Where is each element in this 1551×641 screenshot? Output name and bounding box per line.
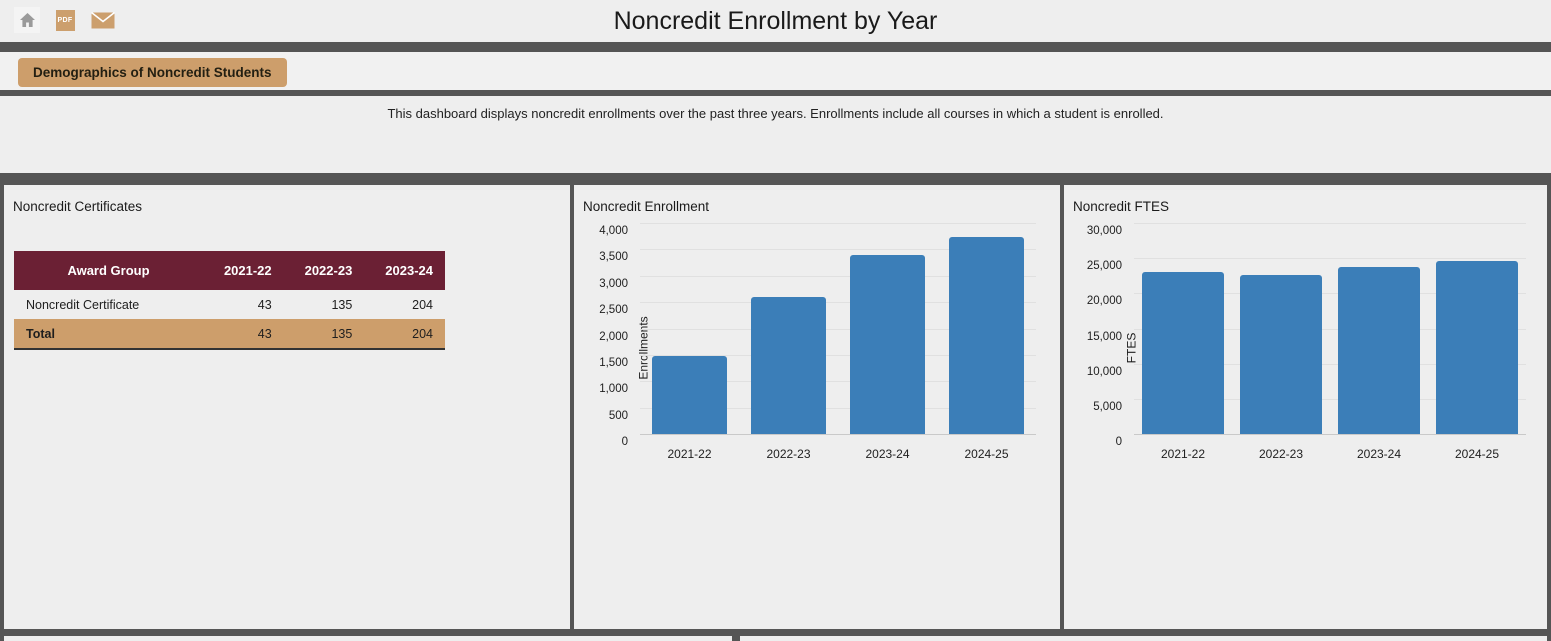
panel-noncredit-ftes: Noncredit FTES 05,00010,00015,00020,0002… bbox=[1064, 185, 1547, 629]
enrollment-y-axis-label: Enrollments bbox=[637, 316, 651, 379]
cell-value: 135 bbox=[284, 290, 365, 319]
gridline bbox=[640, 223, 1036, 224]
y-axis-tick-label: 2,500 bbox=[599, 304, 628, 316]
total-value: 135 bbox=[284, 319, 365, 349]
total-value: 204 bbox=[364, 319, 445, 349]
col-2021-22: 2021-22 bbox=[203, 251, 284, 290]
x-axis-tick-label: 2021-22 bbox=[667, 447, 711, 461]
table-body: Noncredit Certificate 43 135 204 Total 4… bbox=[14, 290, 445, 349]
total-value: 43 bbox=[203, 319, 284, 349]
table-header-row: Award Group 2021-22 2022-23 2023-24 bbox=[14, 251, 445, 290]
y-axis-tick-label: 10,000 bbox=[1087, 366, 1122, 378]
bar-2021-22[interactable] bbox=[1142, 272, 1224, 434]
x-axis-tick-label: 2024-25 bbox=[1455, 447, 1499, 461]
dashboard-root: PDF Noncredit Enrollment by Year Demogra… bbox=[0, 0, 1551, 641]
row-label: Noncredit Certificate bbox=[14, 290, 203, 319]
ftes-plot-area: FTES 2021-222022-232023-242024-25 bbox=[1134, 223, 1526, 434]
y-axis-tick-label: 0 bbox=[622, 436, 628, 448]
y-axis-tick-label: 5,000 bbox=[1093, 401, 1122, 413]
cell-value: 43 bbox=[203, 290, 284, 319]
total-label: Total bbox=[14, 319, 203, 349]
dashboard-description: This dashboard displays noncredit enroll… bbox=[0, 106, 1551, 121]
tab-demographics-of-noncredit-students[interactable]: Demographics of Noncredit Students bbox=[18, 58, 287, 87]
x-axis-tick-label: 2023-24 bbox=[1357, 447, 1401, 461]
y-axis-tick-label: 1,000 bbox=[599, 383, 628, 395]
col-award-group: Award Group bbox=[14, 251, 203, 290]
bar-2024-25[interactable] bbox=[949, 237, 1024, 434]
enrollment-plot-area: Enrollments 2021-222022-232023-242024-25 bbox=[640, 223, 1036, 434]
table-head: Award Group 2021-22 2022-23 2023-24 bbox=[14, 251, 445, 290]
bar-2022-23[interactable] bbox=[1240, 275, 1322, 434]
y-axis-tick-label: 3,000 bbox=[599, 278, 628, 290]
y-axis-tick-label: 25,000 bbox=[1087, 260, 1122, 272]
bottom-panel-right bbox=[740, 636, 1547, 641]
ftes-bar-chart: 05,00010,00015,00020,00025,00030,000 FTE… bbox=[1064, 215, 1547, 465]
x-axis-tick-label: 2022-23 bbox=[1259, 447, 1303, 461]
y-axis-tick-label: 1,500 bbox=[599, 357, 628, 369]
panel-noncredit-certificates: Noncredit Certificates Award Group 2021-… bbox=[4, 185, 570, 629]
bar-2023-24[interactable] bbox=[850, 255, 925, 434]
tab-strip: Demographics of Noncredit Students bbox=[0, 52, 1551, 93]
y-axis-tick-label: 500 bbox=[609, 410, 628, 422]
bar-2022-23[interactable] bbox=[751, 297, 826, 434]
ftes-y-axis: 05,00010,00015,00020,00025,00030,000 bbox=[1064, 223, 1128, 434]
y-axis-tick-label: 0 bbox=[1116, 436, 1122, 448]
y-axis-tick-label: 15,000 bbox=[1087, 331, 1122, 343]
cell-value: 204 bbox=[364, 290, 445, 319]
bar-2021-22[interactable] bbox=[652, 356, 727, 434]
gridline bbox=[1134, 434, 1526, 435]
panel-row: Noncredit Certificates Award Group 2021-… bbox=[0, 185, 1551, 629]
panel-title-ftes: Noncredit FTES bbox=[1073, 199, 1169, 214]
description-band: This dashboard displays noncredit enroll… bbox=[0, 96, 1551, 178]
gridline bbox=[1134, 223, 1526, 224]
bar-2024-25[interactable] bbox=[1436, 261, 1518, 434]
ftes-y-axis-label: FTES bbox=[1124, 333, 1138, 364]
table-row: Noncredit Certificate 43 135 204 bbox=[14, 290, 445, 319]
panel-title-certificates: Noncredit Certificates bbox=[13, 199, 142, 214]
bar-2023-24[interactable] bbox=[1338, 267, 1420, 434]
bottom-panel-left bbox=[4, 636, 732, 641]
x-axis-tick-label: 2021-22 bbox=[1161, 447, 1205, 461]
x-axis-tick-label: 2023-24 bbox=[865, 447, 909, 461]
y-axis-tick-label: 3,500 bbox=[599, 251, 628, 263]
y-axis-tick-label: 2,000 bbox=[599, 331, 628, 343]
x-axis-tick-label: 2022-23 bbox=[766, 447, 810, 461]
y-axis-tick-label: 4,000 bbox=[599, 225, 628, 237]
table-total-row: Total 43 135 204 bbox=[14, 319, 445, 349]
panel-title-enrollment: Noncredit Enrollment bbox=[583, 199, 709, 214]
panel-noncredit-enrollment: Noncredit Enrollment 05001,0001,5002,000… bbox=[574, 185, 1060, 629]
col-2022-23: 2022-23 bbox=[284, 251, 365, 290]
y-axis-tick-label: 30,000 bbox=[1087, 225, 1122, 237]
gridline bbox=[1134, 258, 1526, 259]
col-2023-24: 2023-24 bbox=[364, 251, 445, 290]
x-axis-tick-label: 2024-25 bbox=[964, 447, 1008, 461]
enrollment-y-axis: 05001,0001,5002,0002,5003,0003,5004,000 bbox=[574, 223, 634, 434]
y-axis-tick-label: 20,000 bbox=[1087, 295, 1122, 307]
page-title: Noncredit Enrollment by Year bbox=[0, 0, 1551, 42]
certificates-table: Award Group 2021-22 2022-23 2023-24 Nonc… bbox=[14, 251, 445, 350]
gridline bbox=[640, 434, 1036, 435]
enrollment-bar-chart: 05001,0001,5002,0002,5003,0003,5004,000 … bbox=[574, 215, 1060, 465]
toolbar: PDF Noncredit Enrollment by Year bbox=[0, 0, 1551, 44]
